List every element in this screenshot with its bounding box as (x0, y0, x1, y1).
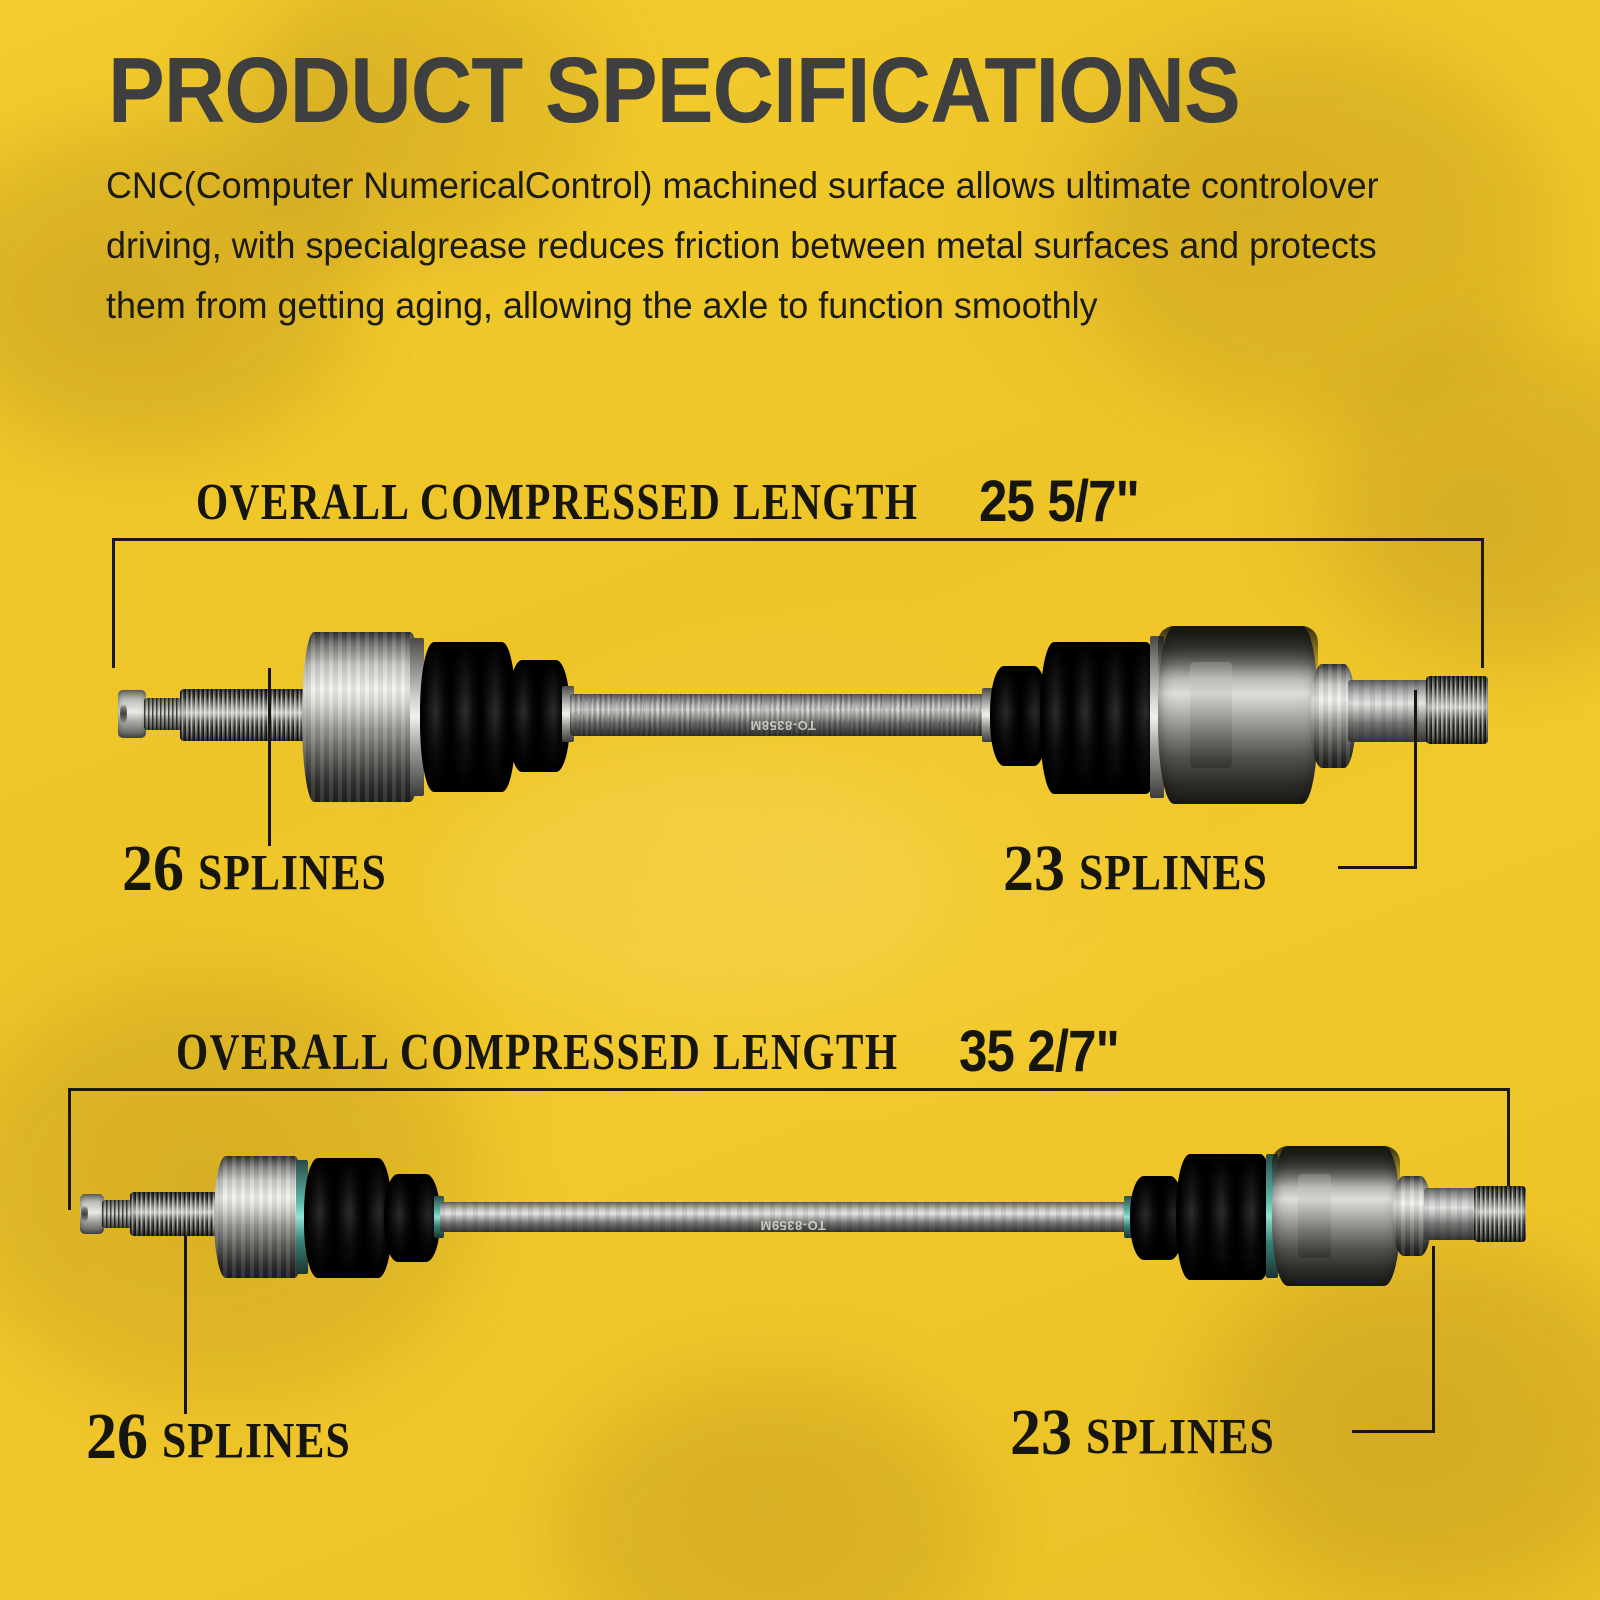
part-number-stamp-1: TO-8358M (750, 718, 816, 733)
page-title: PRODUCT SPECIFICATIONS (108, 44, 1240, 137)
spline-callout-left-1: 26 SPLINES (122, 836, 393, 907)
spline-count-right-2: 23 (1010, 1396, 1072, 1471)
cv-boot-left-2 (384, 1174, 440, 1262)
axle-spline-right-2 (1474, 1186, 1526, 1242)
spline-count-left-1: 26 (122, 832, 184, 907)
cv-boot-left-1 (508, 660, 570, 772)
leader-line-right-h-2 (1352, 1430, 1435, 1433)
product-specifications-page: PRODUCT SPECIFICATIONS CNC(Computer Nume… (0, 0, 1600, 1600)
cv-boot-left-2 (304, 1158, 392, 1278)
spec-heading-value-2: 35 2/7" (959, 1018, 1119, 1085)
cv-boot-right-1 (1040, 642, 1160, 794)
spec-heading-2: OVERALL COMPRESSED LENGTH 35 2/7" (176, 1018, 1140, 1085)
axle-threaded-stub-1 (144, 698, 182, 730)
leader-line-right-2 (1432, 1246, 1435, 1432)
spec-heading-value-1: 25 5/7" (979, 468, 1139, 535)
spline-count-left-2: 26 (86, 1400, 148, 1475)
spline-callout-right-1: 23 SPLINES (1003, 836, 1274, 907)
background-blob (430, 760, 950, 1020)
spline-word-left-1: SPLINES (198, 844, 387, 902)
cv-outer-housing-2 (1272, 1146, 1400, 1286)
spec-heading-label-1: OVERALL COMPRESSED LENGTH (196, 472, 918, 532)
cv-joint-housing-left-1 (302, 632, 422, 802)
spec-heading-1: OVERALL COMPRESSED LENGTH 25 5/7" (196, 468, 1160, 535)
axle-nut-2 (80, 1194, 104, 1234)
axle-stub-right-1 (1348, 680, 1432, 742)
spline-callout-left-2: 26 SPLINES (86, 1404, 357, 1475)
spline-word-right-1: SPLINES (1079, 844, 1268, 902)
spec-heading-label-2: OVERALL COMPRESSED LENGTH (176, 1022, 898, 1082)
spline-count-right-1: 23 (1003, 832, 1065, 907)
cv-boot-left-1 (420, 642, 516, 792)
spline-callout-right-2: 23 SPLINES (1010, 1400, 1281, 1471)
cv-joint-housing-left-2 (214, 1156, 306, 1278)
part-number-stamp-2: TO-8359M (760, 1218, 826, 1233)
cv-boot-right-2 (1176, 1154, 1274, 1280)
leader-line-left-2 (184, 1236, 187, 1414)
axle-spline-left-1 (180, 689, 310, 741)
axle-spline-right-1 (1426, 676, 1488, 744)
intro-paragraph: CNC(Computer NumericalControl) machined … (106, 156, 1464, 336)
cv-axle-assembly-2: TO-8359M (70, 1120, 1520, 1300)
spline-word-right-2: SPLINES (1086, 1408, 1275, 1466)
spline-word-left-2: SPLINES (162, 1412, 351, 1470)
cv-axle-assembly-1: TO-8358M (110, 560, 1490, 760)
leader-line-left-1 (268, 668, 271, 846)
leader-line-right-h-1 (1338, 866, 1417, 869)
background-blob (560, 1380, 980, 1600)
cv-outer-housing-1 (1158, 626, 1318, 804)
axle-threaded-stub-2 (102, 1200, 132, 1228)
leader-line-right-1 (1414, 690, 1417, 868)
axle-spline-left-2 (130, 1192, 220, 1236)
axle-nut-1 (118, 690, 146, 738)
